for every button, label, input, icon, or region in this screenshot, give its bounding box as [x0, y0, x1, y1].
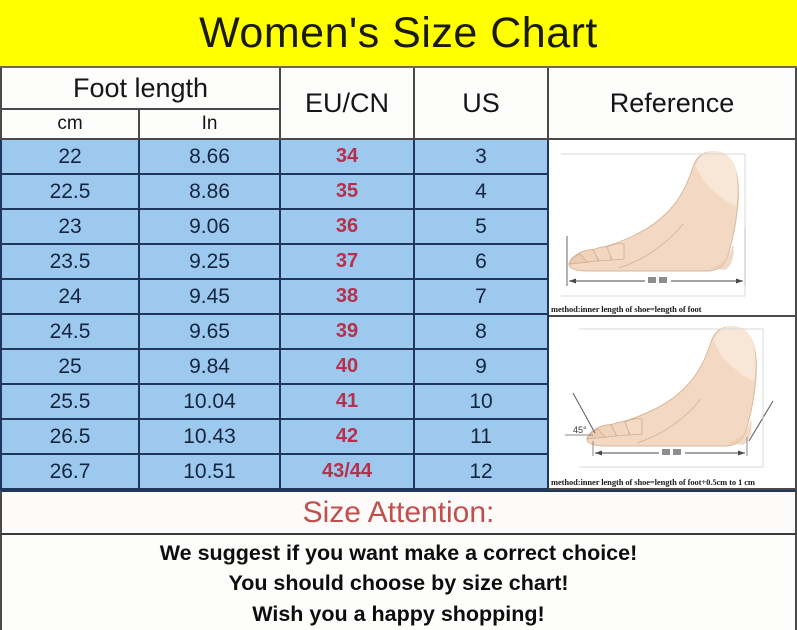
cell-eu: 42	[281, 420, 415, 455]
reference-caption-2: method:inner length of shoe=length of fo…	[551, 477, 795, 487]
header-us: US	[415, 68, 549, 140]
title-banner: Women's Size Chart	[0, 0, 797, 68]
cell-us: 12	[415, 455, 549, 490]
cell-us: 10	[415, 385, 549, 420]
size-attention-row: Size Attention:	[0, 490, 797, 535]
cell-us: 4	[415, 175, 549, 210]
cell-eu: 37	[281, 245, 415, 280]
cell-cm: 22	[0, 140, 140, 175]
note-line: We suggest if you want make a correct ch…	[160, 538, 638, 569]
cell-cm: 23.5	[0, 245, 140, 280]
foot-measure-icon	[549, 140, 797, 317]
reference-figure-2: 45° method:inner length of shoe=len	[549, 317, 797, 490]
cell-us: 8	[415, 315, 549, 350]
cell-cm: 26.5	[0, 420, 140, 455]
size-chart-root: Women's Size Chart Foot length cm In EU/…	[0, 0, 797, 630]
attention-notes: We suggest if you want make a correct ch…	[0, 535, 797, 630]
header-in: In	[140, 110, 281, 140]
cell-cm: 24.5	[0, 315, 140, 350]
foot-side-view-diagram-1	[549, 140, 795, 315]
cell-cm: 25	[0, 350, 140, 385]
foot-measure-angle-icon: 45°	[549, 317, 797, 490]
header-eu-cn: EU/CN	[281, 68, 415, 140]
cell-us: 7	[415, 280, 549, 315]
cell-eu: 40	[281, 350, 415, 385]
cell-eu: 34	[281, 140, 415, 175]
reference-figure-1: method:inner length of shoe=length of fo…	[549, 140, 797, 317]
cell-eu: 43/44	[281, 455, 415, 490]
cell-eu: 36	[281, 210, 415, 245]
angle-label: 45°	[573, 425, 587, 435]
cell-in: 9.65	[140, 315, 281, 350]
cell-cm: 26.7	[0, 455, 140, 490]
cell-in: 10.51	[140, 455, 281, 490]
cell-in: 9.84	[140, 350, 281, 385]
page-title: Women's Size Chart	[199, 12, 598, 55]
cell-in: 8.86	[140, 175, 281, 210]
cell-cm: 23	[0, 210, 140, 245]
cell-us: 5	[415, 210, 549, 245]
cell-in: 10.43	[140, 420, 281, 455]
header-cm: cm	[0, 110, 140, 140]
cell-us: 11	[415, 420, 549, 455]
cell-in: 8.66	[140, 140, 281, 175]
cell-eu: 41	[281, 385, 415, 420]
cell-eu: 39	[281, 315, 415, 350]
cell-us: 6	[415, 245, 549, 280]
cell-cm: 25.5	[0, 385, 140, 420]
note-line: Wish you a happy shopping!	[252, 599, 544, 630]
reference-caption-1: method:inner length of shoe=length of fo…	[551, 304, 795, 314]
cell-in: 10.04	[140, 385, 281, 420]
cell-us: 9	[415, 350, 549, 385]
cell-cm: 24	[0, 280, 140, 315]
foot-side-view-diagram-2: 45°	[549, 317, 795, 488]
cell-eu: 38	[281, 280, 415, 315]
header-foot-length: Foot length	[0, 68, 281, 110]
size-attention-heading: Size Attention:	[303, 496, 495, 530]
cell-eu: 35	[281, 175, 415, 210]
cell-in: 9.25	[140, 245, 281, 280]
note-line: You should choose by size chart!	[228, 568, 568, 599]
cell-in: 9.45	[140, 280, 281, 315]
cell-cm: 22.5	[0, 175, 140, 210]
size-table: Foot length cm In EU/CN US Reference 22 …	[0, 68, 797, 490]
header-reference: Reference	[549, 68, 797, 140]
cell-us: 3	[415, 140, 549, 175]
cell-in: 9.06	[140, 210, 281, 245]
